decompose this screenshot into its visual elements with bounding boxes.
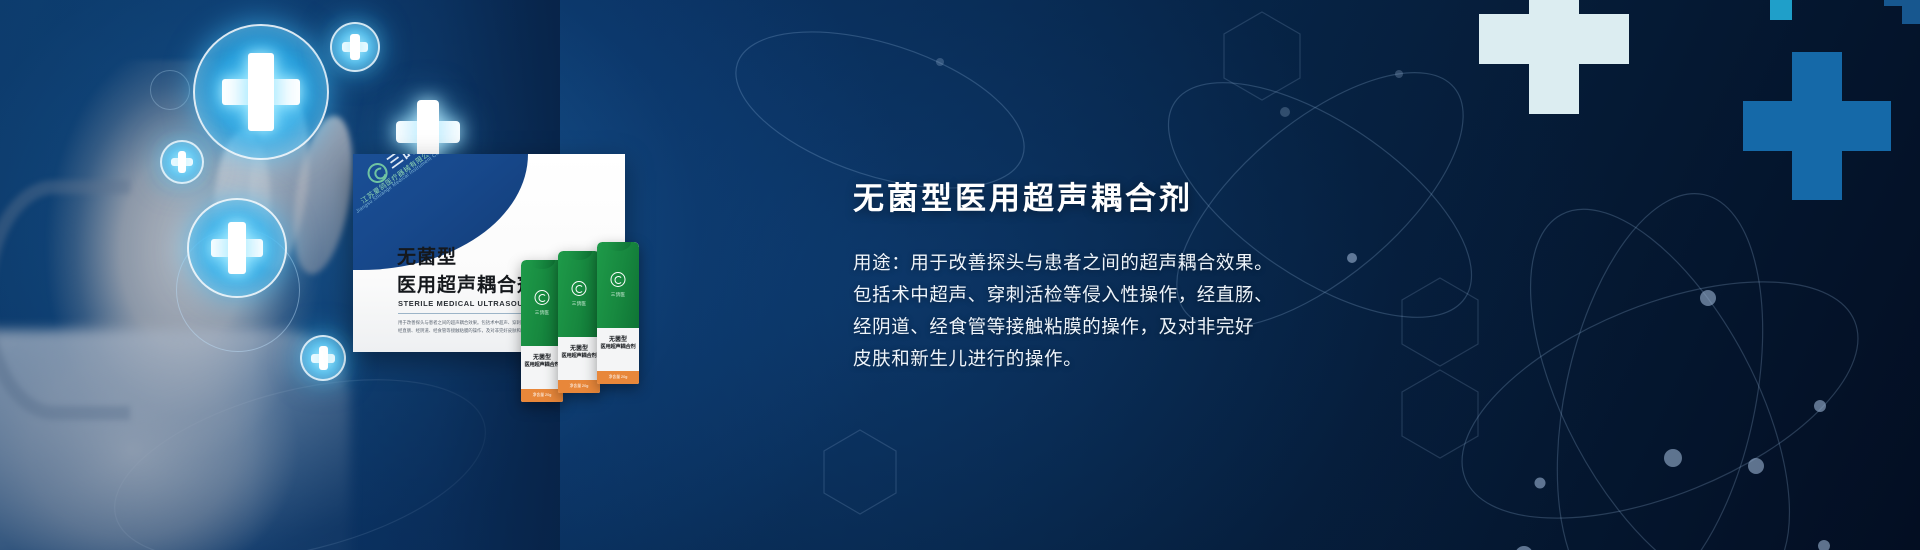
geometric-cross-icon xyxy=(1748,0,1814,20)
product-sachet: 三鸽医 无菌型 医用超声耦合剂 净含量 20g xyxy=(558,251,600,393)
description-line: 包括术中超声、穿刺活检等侵入性操作，经直肠、 xyxy=(853,279,1613,311)
sachet-logo-icon xyxy=(611,272,626,287)
sachet-logo-icon xyxy=(572,281,587,296)
geometric-cross-icon xyxy=(1884,0,1920,24)
sachet-label-line1: 无菌型 xyxy=(597,334,639,343)
medical-cross-icon xyxy=(193,24,329,160)
banner-headline: 无菌型医用超声耦合剂 xyxy=(853,180,1613,217)
geometric-cross-icon xyxy=(1743,52,1891,200)
description-line: 经阴道、经食管等接触粘膜的操作，及对非完好 xyxy=(853,311,1613,343)
sachet-label-line2: 医用超声耦合剂 xyxy=(558,352,600,359)
geometric-cross-icon xyxy=(1479,0,1629,114)
banner-description: 用途：用于改善探头与患者之间的超声耦合效果。 包括术中超声、穿刺活检等侵入性操作… xyxy=(853,247,1613,374)
sachet-footer: 净含量 20g xyxy=(558,380,600,393)
sachet-label-line1: 无菌型 xyxy=(521,352,563,361)
medical-cross-icon xyxy=(160,140,204,184)
description-line: 用途：用于改善探头与患者之间的超声耦合效果。 xyxy=(853,247,1613,279)
box-title-line1: 无菌型 xyxy=(397,242,457,269)
medical-cross-icon xyxy=(187,198,287,298)
sachet-brand: 三鸽医 xyxy=(558,301,600,307)
sachet-brand: 三鸽医 xyxy=(597,292,639,298)
box-title-line2: 医用超声耦合剂 xyxy=(397,270,537,297)
description-line: 皮肤和新生儿进行的操作。 xyxy=(853,343,1613,375)
sachet-logo-icon xyxy=(535,290,550,305)
product-hero-banner: 三鸽医 江苏夏鸽医疗器械有限公司 Jiangsu Shuange Medical… xyxy=(0,0,1920,550)
product-sachet: 三鸽医 无菌型 医用超声耦合剂 净含量 20g xyxy=(521,260,563,402)
sachet-group: 三鸽医 无菌型 医用超声耦合剂 净含量 20g 三鸽医 无菌型 医用超声耦合剂 … xyxy=(521,242,669,402)
product-sachet: 三鸽医 无菌型 医用超声耦合剂 净含量 20g xyxy=(597,242,639,384)
sachet-footer: 净含量 20g xyxy=(597,371,639,384)
sachet-label-line1: 无菌型 xyxy=(558,343,600,352)
sachet-label-line2: 医用超声耦合剂 xyxy=(597,343,639,350)
product-packshot: 三鸽医 江苏夏鸽医疗器械有限公司 Jiangsu Shuange Medical… xyxy=(353,154,665,404)
medical-cross-icon xyxy=(300,335,346,381)
sachet-label-line2: 医用超声耦合剂 xyxy=(521,361,563,368)
sachet-footer: 净含量 20g xyxy=(521,389,563,402)
banner-copy: 无菌型医用超声耦合剂 用途：用于改善探头与患者之间的超声耦合效果。 包括术中超声… xyxy=(853,180,1613,374)
medical-cross-icon xyxy=(330,22,380,72)
sachet-brand: 三鸽医 xyxy=(521,310,563,316)
decorative-ring xyxy=(150,70,190,110)
